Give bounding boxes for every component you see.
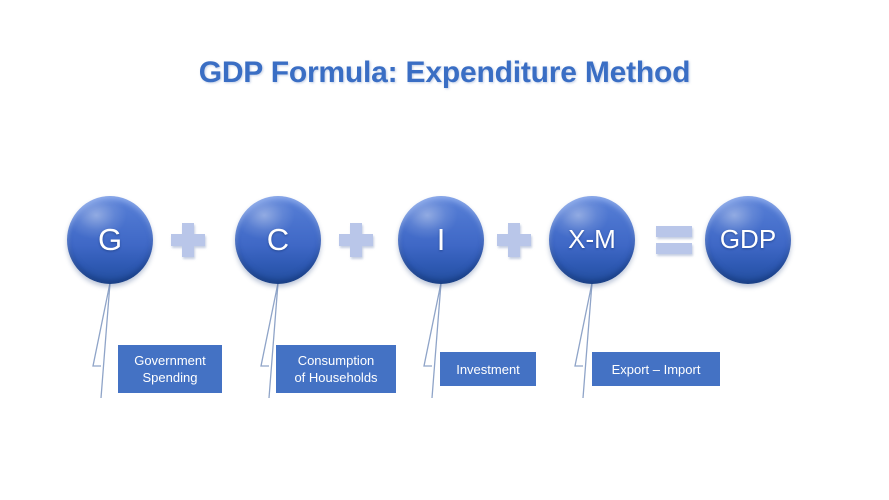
operator-plus-3 [494,196,534,284]
formula-node-c-label: C [267,224,289,257]
operator-plus-1 [168,196,208,284]
formula-row: G C I X-M GDP [0,196,889,286]
label-text: Export – Import [612,361,701,378]
label-text: Consumption of Households [294,352,377,386]
label-text: Investment [456,361,520,378]
formula-node-g-label: G [98,224,122,257]
label-text: Government Spending [134,352,206,386]
formula-node-c[interactable]: C [235,196,321,284]
label-line-1: Government [134,352,206,369]
label-box-export-import[interactable]: Export – Import [592,352,720,386]
label-box-investment[interactable]: Investment [440,352,536,386]
operator-plus-2 [336,196,376,284]
label-line-1: Investment [456,361,520,378]
label-box-consumption[interactable]: Consumption of Households [276,345,396,393]
formula-node-g[interactable]: G [67,196,153,284]
label-line-1: Export – Import [612,361,701,378]
formula-node-i[interactable]: I [398,196,484,284]
plus-icon [339,223,373,257]
page-title: GDP Formula: Expenditure Method [0,56,889,90]
formula-node-gdp-label: GDP [720,226,776,254]
equals-icon [656,225,692,255]
diagram-canvas: GDP Formula: Expenditure Method G [0,0,889,500]
label-box-government-spending[interactable]: Government Spending [118,345,222,393]
formula-node-i-label: I [437,224,446,257]
formula-node-gdp[interactable]: GDP [705,196,791,284]
formula-node-xm[interactable]: X-M [549,196,635,284]
operator-equals [652,196,696,284]
formula-node-xm-label: X-M [568,226,616,254]
label-line-2: Spending [134,369,206,386]
plus-icon [497,223,531,257]
label-line-2: of Households [294,369,377,386]
plus-icon [171,223,205,257]
label-line-1: Consumption [294,352,377,369]
